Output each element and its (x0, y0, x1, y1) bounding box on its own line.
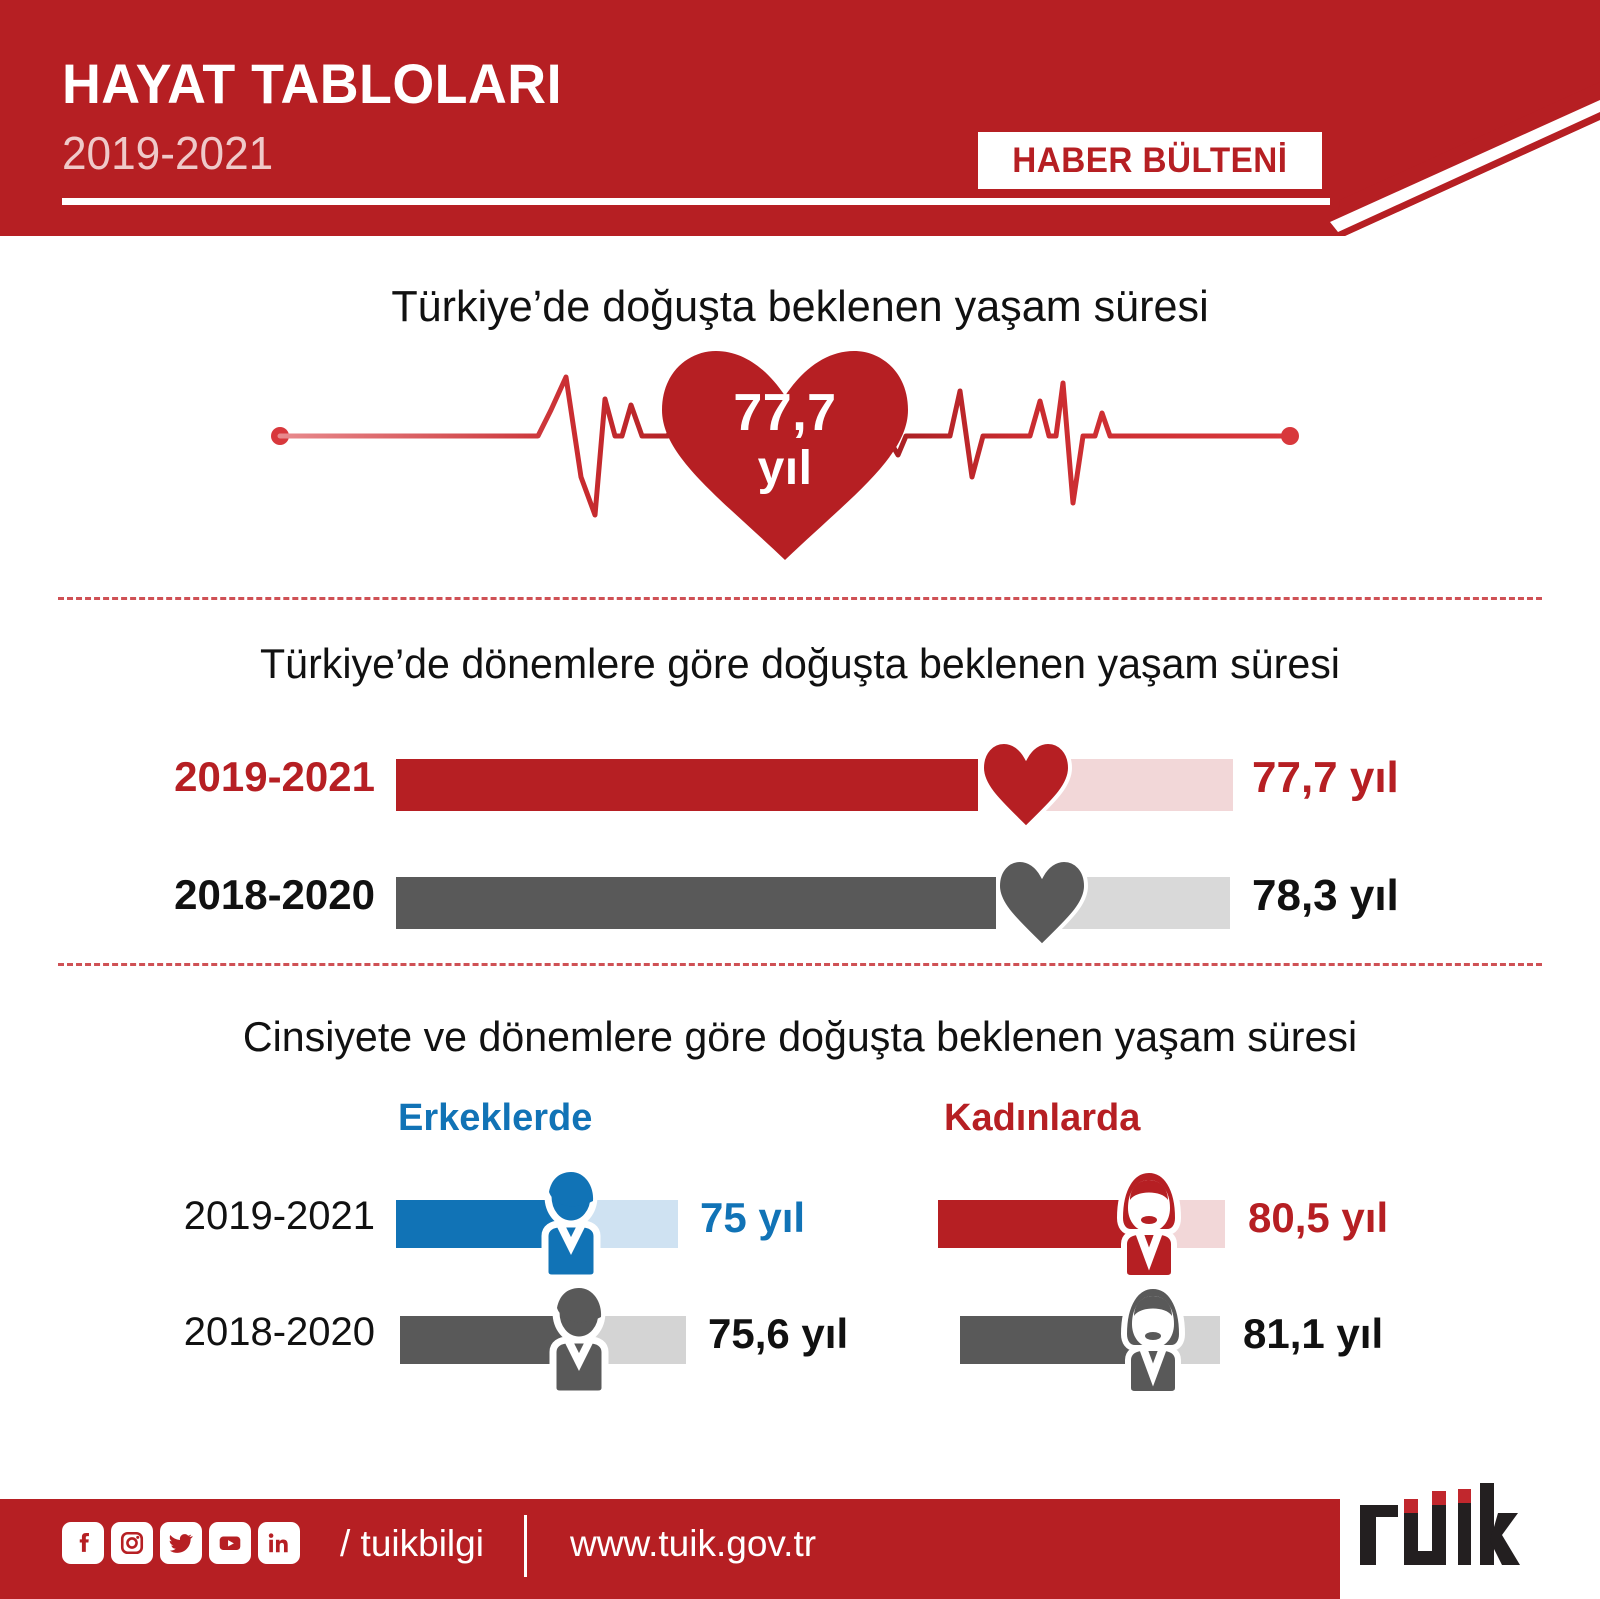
heart-value-number: 77,7 (733, 384, 836, 442)
female-bar-value: 81,1 yıl (1243, 1310, 1383, 1358)
female-column-heading: Kadınlarda (944, 1097, 1140, 1140)
website-url[interactable]: www.tuik.gov.tr (570, 1523, 816, 1565)
male-column-heading: Erkeklerde (398, 1097, 592, 1140)
social-handle[interactable]: / tuikbilgi (340, 1523, 484, 1565)
divider-1 (58, 597, 1542, 600)
social-links (62, 1522, 300, 1564)
page-subtitle: 2019-2021 (62, 130, 273, 176)
footer-separator (524, 1515, 527, 1577)
heart-value-unit: yıl (660, 442, 910, 496)
period-bar-row: 2019-2021 77,7 yıl (0, 735, 1600, 835)
male-person-icon (536, 1280, 622, 1398)
tuik-logo (1358, 1483, 1548, 1573)
male-person-icon (528, 1164, 614, 1282)
period-bar-fill (396, 877, 996, 929)
gender-bar-row: 2018-2020 75,6 yıl 81,1 yıl (0, 1288, 1600, 1398)
section2-title: Türkiye’de dönemlere göre doğuşta beklen… (16, 640, 1584, 688)
gender-bar-label: 2019-2021 (0, 1194, 375, 1239)
bulletin-badge: HABER BÜLTENİ (978, 132, 1322, 189)
bulletin-badge-label: HABER BÜLTENİ (1012, 141, 1287, 181)
period-bar-heart-icon (980, 738, 1072, 830)
period-bar-row: 2018-2020 78,3 yıl (0, 853, 1600, 953)
male-bar-value: 75,6 yıl (708, 1310, 848, 1358)
female-person-icon (1110, 1280, 1196, 1398)
period-bar-value: 77,7 yıl (1252, 753, 1399, 803)
gender-bar-row: 2019-2021 75 yıl 80,5 yıl (0, 1172, 1600, 1282)
divider-2 (58, 963, 1542, 966)
period-bar-heart-icon (996, 856, 1088, 948)
female-bar-value: 80,5 yıl (1248, 1194, 1388, 1242)
life-expectancy-heart-value: 77,7 yıl (660, 384, 910, 496)
period-bar-label: 2019-2021 (0, 753, 375, 801)
period-bar-fill (396, 759, 978, 811)
period-bar-value: 78,3 yıl (1252, 871, 1399, 921)
header: HAYAT TABLOLARI 2019-2021 HABER BÜLTENİ (0, 0, 1600, 236)
twitter-icon[interactable] (160, 1522, 202, 1564)
linkedin-icon[interactable] (258, 1522, 300, 1564)
infographic-page: HAYAT TABLOLARI 2019-2021 HABER BÜLTENİ … (0, 0, 1600, 1599)
gender-bar-label: 2018-2020 (0, 1310, 375, 1355)
section3-title: Cinsiyete ve dönemlere göre doğuşta bekl… (16, 1013, 1584, 1061)
period-bar-label: 2018-2020 (0, 871, 375, 919)
instagram-icon[interactable] (111, 1522, 153, 1564)
male-bar-value: 75 yıl (700, 1194, 805, 1242)
header-rule (62, 198, 1330, 205)
section1-title: Türkiye’de doğuşta beklenen yaşam süresi (16, 282, 1584, 332)
female-person-icon (1106, 1164, 1192, 1282)
facebook-icon[interactable] (62, 1522, 104, 1564)
youtube-icon[interactable] (209, 1522, 251, 1564)
page-title: HAYAT TABLOLARI (62, 56, 562, 112)
